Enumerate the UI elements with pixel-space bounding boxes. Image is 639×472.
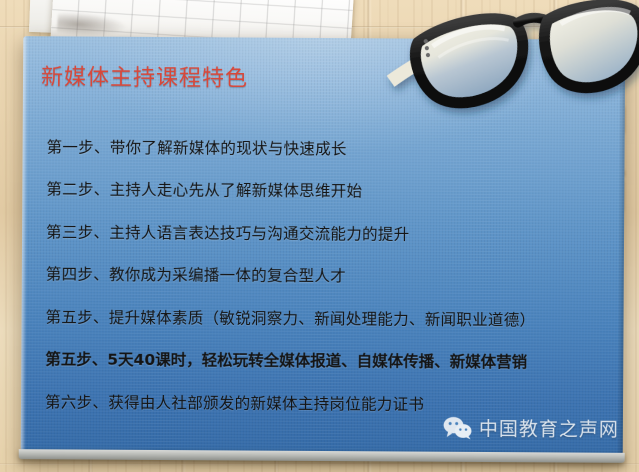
list-item: 第五步、提升媒体素质（敏锐洞察力、新闻处理能力、新闻职业道德）	[45, 296, 617, 342]
wechat-icon	[443, 415, 473, 439]
blue-slide-panel: 新媒体主持课程特色 第一步、带你了解新媒体的现状与快速成长 第二步、主持人走心先…	[21, 36, 626, 454]
bullet-list: 第一步、带你了解新媒体的现状与快速成长 第二步、主持人走心先从了解新媒体思维开始…	[45, 126, 619, 427]
list-item: 第四步、教你成为采编播一体的复合型人才	[46, 254, 618, 300]
watermark: 中国教育之声网	[443, 414, 619, 442]
list-item: 第二步、主持人走心先从了解新媒体思维开始	[46, 169, 618, 215]
slide-surface: 新媒体主持课程特色 第一步、带你了解新媒体的现状与快速成长 第二步、主持人走心先…	[21, 36, 626, 454]
page-title: 新媒体主持课程特色	[41, 67, 248, 90]
slide-screenshot: 新媒体主持课程特色 第一步、带你了解新媒体的现状与快速成长 第二步、主持人走心先…	[0, 0, 639, 472]
list-item: 第五步、5天40课时，轻松玩转全媒体报道、自媒体传播、新媒体营销	[45, 339, 617, 385]
watermark-label: 中国教育之声网	[479, 414, 619, 442]
list-item: 第三步、主持人语言表达技巧与沟通交流能力的提升	[46, 211, 618, 257]
slide-content: 新媒体主持课程特色 第一步、带你了解新媒体的现状与快速成长 第二步、主持人走心先…	[21, 36, 626, 454]
list-item: 第一步、带你了解新媒体的现状与快速成长	[46, 126, 618, 172]
paper-smudge	[57, 11, 128, 39]
desk-plank-seam	[0, 463, 639, 465]
